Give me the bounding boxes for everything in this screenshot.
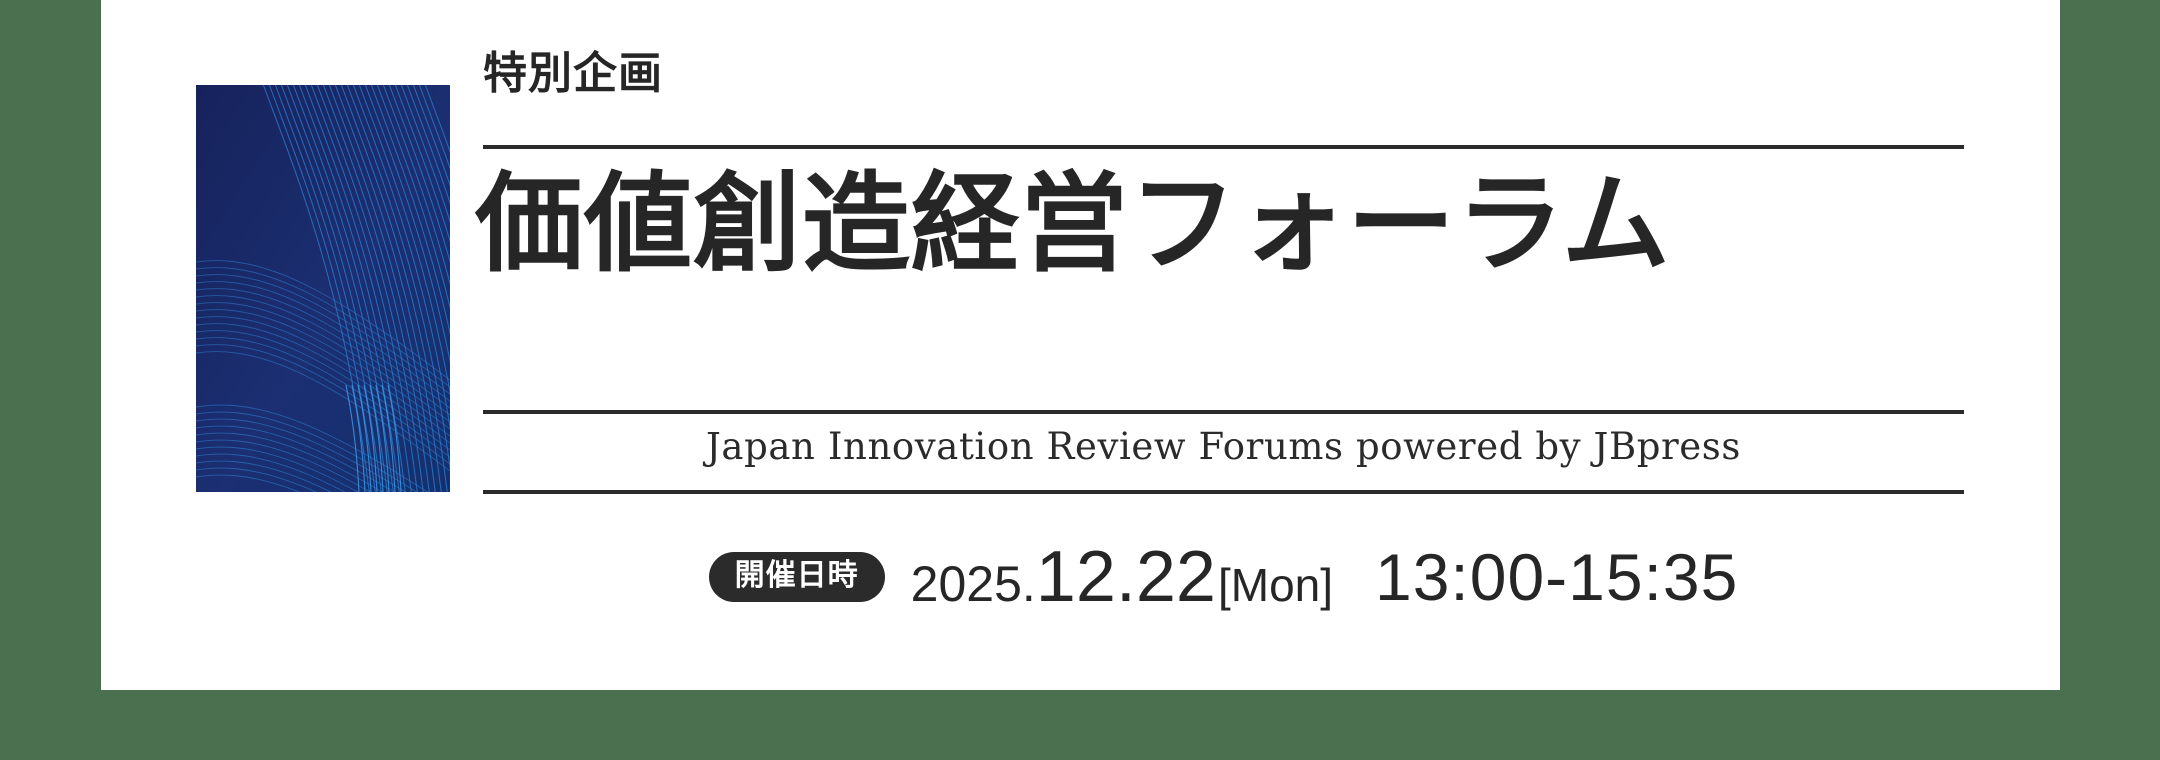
subtitle: Japan Innovation Review Forums powered b… [483, 419, 1964, 475]
schedule-badge: 開催日時 [709, 552, 885, 602]
schedule-row: 開催日時 2025.12.22[Mon] 13:00-15:35 [483, 532, 1964, 622]
banner-stage: 特別企画 価値創造経営フォーラム Japan Innovation Review… [0, 0, 2160, 760]
divider-top [483, 145, 1964, 149]
schedule-year: 2025. [911, 555, 1036, 613]
blue-wave-artwork [196, 85, 450, 492]
schedule-time-range: 13:00-15:35 [1375, 539, 1738, 615]
banner-content: 特別企画 価値創造経営フォーラム Japan Innovation Review… [483, 0, 1983, 690]
eyebrow-label: 特別企画 [483, 52, 663, 96]
schedule-day-of-week: [Mon] [1218, 558, 1333, 612]
page-title: 価値創造経営フォーラム [475, 160, 1975, 287]
divider-middle [483, 410, 1964, 414]
divider-bottom [483, 490, 1964, 494]
schedule-date: 2025.12.22[Mon] [911, 536, 1333, 618]
schedule-month-day: 12.22 [1036, 536, 1216, 618]
banner-card: 特別企画 価値創造経営フォーラム Japan Innovation Review… [101, 0, 2060, 690]
